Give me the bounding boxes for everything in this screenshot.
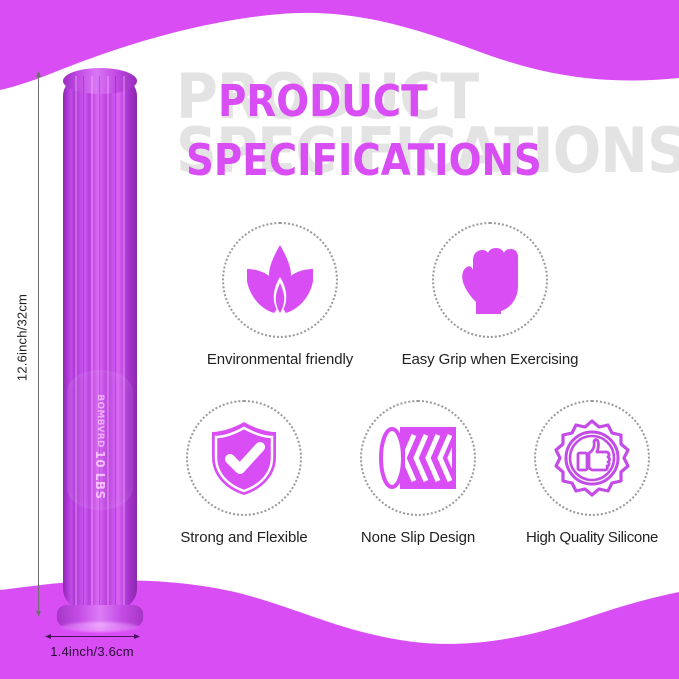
feature-label: Strong and Flexible	[180, 529, 307, 546]
feature-high-quality-silicone: High Quality Silicone	[516, 400, 668, 546]
feature-row-top: Environmental friendly Easy Grip when Ex…	[204, 222, 566, 368]
icon-circle	[534, 400, 650, 516]
shield-check-icon	[208, 419, 280, 497]
height-dimension-label: 12.6inch/32cm	[15, 278, 30, 398]
height-dimension-line	[38, 76, 39, 614]
height-arrow-bottom-icon	[33, 606, 45, 618]
leaf-plant-icon	[241, 243, 319, 317]
diameter-dimension-line	[48, 636, 136, 637]
icon-circle	[222, 222, 338, 338]
feature-label: High Quality Silicone	[526, 529, 658, 546]
diameter-arrow-left-icon	[44, 631, 56, 643]
icon-circle	[360, 400, 476, 516]
icon-circle	[432, 222, 548, 338]
feature-label: None Slip Design	[361, 529, 475, 546]
feature-none-slip-design: None Slip Design	[342, 400, 494, 546]
product-specifications-infographic: PRODUCT SPECIFICATIONS PRODUCT SPECIFICA…	[0, 0, 679, 679]
brand-logo-text: BOMBVRD	[95, 394, 105, 447]
feature-label: Easy Grip when Exercising	[402, 351, 579, 368]
diameter-dimension-label: 1.4inch/3.6cm	[22, 644, 162, 659]
feature-label: Environmental friendly	[207, 351, 353, 368]
product-image-silicone-bar: BOMBVRD 10 LBS	[57, 70, 143, 640]
feature-environmental-friendly: Environmental friendly	[204, 222, 356, 368]
feature-grid: Environmental friendly Easy Grip when Ex…	[168, 222, 668, 570]
feature-row-bottom: Strong and Flexible	[168, 400, 668, 546]
fist-grip-icon	[457, 242, 523, 318]
rolled-mat-icon	[378, 425, 458, 491]
feature-strong-flexible: Strong and Flexible	[168, 400, 320, 546]
quality-badge-thumbs-up-icon	[552, 418, 632, 498]
title-line-2: SPECIFICATIONS	[186, 139, 542, 183]
diameter-arrow-right-icon	[129, 631, 141, 643]
height-arrow-top-icon	[33, 70, 45, 82]
title-line-1: PRODUCT	[218, 80, 428, 124]
product-label-plate: BOMBVRD 10 LBS	[67, 370, 133, 510]
feature-easy-grip: Easy Grip when Exercising	[414, 222, 566, 368]
weight-label: 10 LBS	[93, 450, 107, 499]
bar-base-reflection	[61, 622, 139, 632]
icon-circle	[186, 400, 302, 516]
